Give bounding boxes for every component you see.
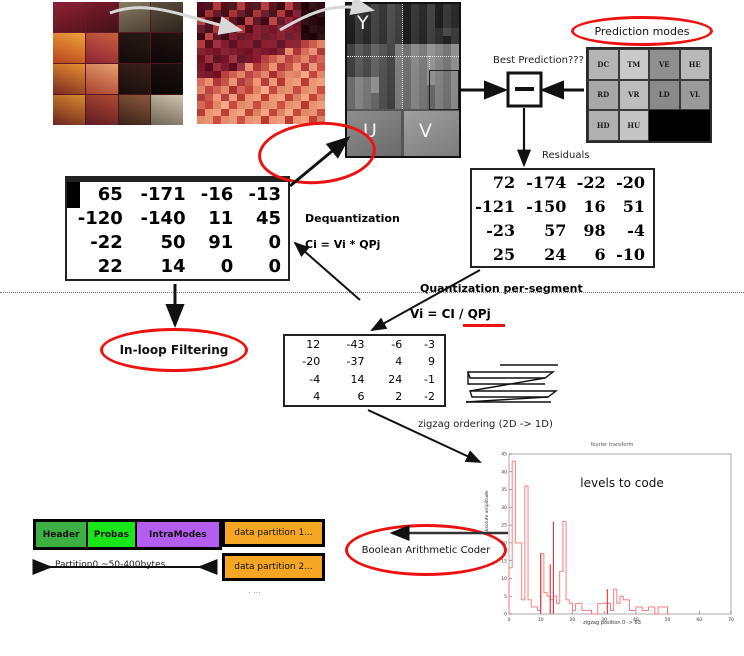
levels-to-code-annotation: levels to code [547,476,697,490]
pixel [261,63,269,71]
matrix-cell: 50 [130,231,193,255]
pixel [269,10,277,18]
dequantized-coefficients-matrix: 65-171-16-13-120-1401145-2250910221400 [65,176,290,281]
y-pixel [403,36,411,44]
y-pixel [371,101,379,109]
pixel [309,25,317,33]
quantized-coefficients-matrix: 12-43-6-3-20-3749-41424-1462-2 [283,334,446,407]
pixel [293,10,301,18]
dequantization-label: Dequantization [305,212,400,225]
matrix-cell: -22 [67,231,130,255]
pixel [237,25,245,33]
pixel [205,86,213,94]
pixel [261,109,269,117]
pixel [269,109,277,117]
pixel [309,78,317,86]
prediction-mode-hd[interactable]: HD [588,110,619,141]
matrix-cell: 24 [523,242,574,266]
pixel [221,63,229,71]
pixel [213,48,221,56]
y-pixel [443,20,451,28]
y-pixel [355,4,363,12]
chart-xlabel: zigzag position 0 -> 63 [487,620,737,626]
y-pixel [403,77,411,85]
prediction-mode-empty[interactable] [680,110,711,141]
y-pixel [355,93,363,101]
pixel [317,55,325,63]
pixel [269,40,277,48]
prediction-mode-hu[interactable]: HU [619,110,650,141]
pixel [269,86,277,94]
y-pixel [403,12,411,20]
pixel [237,78,245,86]
pixel [253,109,261,117]
y-pixel [387,77,395,85]
pixel [221,25,229,33]
prediction-mode-label: RD [597,90,609,99]
quantization-divider [0,292,744,293]
y-pixel [411,36,419,44]
pixel [317,78,325,86]
pixel [205,94,213,102]
pixel [293,2,301,10]
matrix-cell: -16 [193,182,241,206]
y-pixel [427,36,435,44]
y-pixel [419,36,427,44]
pixel [261,10,269,18]
y-pixel [363,36,371,44]
y-pixel [347,85,355,93]
pixel [277,48,285,56]
photo-tile [119,33,151,63]
pixel [237,116,245,124]
y-pixel [355,69,363,77]
pixel [253,101,261,109]
y-pixel [427,28,435,36]
y-pixel [379,44,387,52]
y-pixel [411,4,419,12]
pixel [301,86,309,94]
y-pixel [363,61,371,69]
pixel [277,116,285,124]
pixel [317,101,325,109]
macroblock-photo-grid [53,2,183,125]
svg-text:25: 25 [501,523,507,529]
pixel [301,40,309,48]
y-pixel [371,93,379,101]
photo-tile [119,2,151,32]
y-pixel [387,101,395,109]
matrix-cell: -1 [411,371,444,388]
y-pixel [427,20,435,28]
pixel [309,94,317,102]
matrix-cell: -4 [614,218,653,242]
pixel [197,25,205,33]
pixel [213,116,221,124]
coefficient-histogram: fourier transform absolute amplitude zig… [487,442,737,642]
dequantization-formula: Ci = Vi * QPj [305,238,380,251]
y-pixel [387,28,395,36]
y-pixel [379,101,387,109]
y-pixel [379,28,387,36]
y-pixel [403,85,411,93]
y-pixel [347,12,355,20]
svg-text:0: 0 [504,612,507,618]
pixel [309,55,317,63]
pixel [221,109,229,117]
pixel [309,17,317,25]
partition0-segment-intramodes[interactable]: IntraModes [137,522,219,547]
pixel [285,71,293,79]
y-pixel [451,61,459,69]
partition0-segment-probas[interactable]: Probas [88,522,137,547]
pixel [205,25,213,33]
quant-tbody: 12-43-6-3-20-3749-41424-1462-2 [285,336,444,405]
y-split-horizontal [347,56,459,57]
y-pixel [435,44,443,52]
matrix-cell: -171 [130,182,193,206]
pixel [269,63,277,71]
y-pixel [371,77,379,85]
pixel [317,48,325,56]
pixel [229,25,237,33]
pixel [197,109,205,117]
y-pixel [387,12,395,20]
prediction-mode-tm[interactable]: TM [619,49,650,80]
pixel [197,78,205,86]
pixel [309,40,317,48]
svg-text:30: 30 [501,505,507,511]
y-pixel [411,85,419,93]
pixel [293,71,301,79]
pixel [277,17,285,25]
pixel [309,2,317,10]
y-pixel [443,4,451,12]
pixel [237,48,245,56]
matrix-cell: -37 [329,353,373,370]
y-pixel [411,77,419,85]
pixel [269,71,277,79]
pixel [317,10,325,18]
pixel [261,33,269,41]
pixel [285,10,293,18]
pixel [293,40,301,48]
prediction-mode-vl[interactable]: VL [680,80,711,111]
y-pixel [443,44,451,52]
pixel [301,71,309,79]
pixel [261,71,269,79]
y-pixel [419,69,427,77]
y-pixel [347,20,355,28]
y-pixel [347,44,355,52]
pixel [253,17,261,25]
pixel [269,116,277,124]
pixel [253,86,261,94]
y-pixel [347,28,355,36]
pixel [277,94,285,102]
prediction-mode-vr[interactable]: VR [619,80,650,111]
pixel [277,86,285,94]
pixel [261,17,269,25]
pixel [269,55,277,63]
pixel [205,71,213,79]
y-pixel [371,69,379,77]
pixel [197,2,205,10]
matrix-row: -121-1501651 [472,194,653,218]
y-pixel [347,69,355,77]
matrix-cell: 9 [411,353,444,370]
svg-text:10: 10 [501,576,507,582]
pixel [261,25,269,33]
pixel [229,78,237,86]
y-pixel [435,36,443,44]
matrix-row: 65-171-16-13 [67,182,288,206]
y-pixel [371,12,379,20]
pixel [205,48,213,56]
pixel [245,33,253,41]
matrix-cell: 91 [193,231,241,255]
pixel [253,78,261,86]
matrix-cell: 14 [130,255,193,279]
prediction-mode-he[interactable]: HE [680,49,711,80]
pixel [309,86,317,94]
y-pixel [411,44,419,52]
photo-tile [151,95,183,125]
matrix-row: 72-174-22-20 [472,170,653,194]
pixel [269,94,277,102]
pixel [205,116,213,124]
dc-marker [67,182,80,208]
pixel [221,40,229,48]
matrix-cell: 25 [472,242,523,266]
pixel [253,55,261,63]
pixel [293,63,301,71]
pixel [197,116,205,124]
matrix-cell: 57 [523,218,574,242]
pixel [229,94,237,102]
matrix-row: -235798-4 [472,218,653,242]
y-pixel [411,20,419,28]
pixel [285,48,293,56]
matrix-cell: 4 [285,388,329,405]
matrix-cell: -13 [240,182,288,206]
v-plane-label: V [419,120,432,142]
pixel [253,71,261,79]
y-pixel [451,20,459,28]
pixel [261,116,269,124]
prediction-mode-ld[interactable]: LD [649,80,680,111]
pixel [237,109,245,117]
y-pixel [387,44,395,52]
pixel [229,17,237,25]
matrix-cell: -23 [472,218,523,242]
matrix-row: 12-43-6-3 [285,336,444,353]
pixel [293,55,301,63]
y-pixel [355,85,363,93]
pixel [261,48,269,56]
pixel [221,86,229,94]
pixel [285,86,293,94]
pixel [245,40,253,48]
photo-tile [53,33,85,63]
pixel [317,40,325,48]
pixel [237,71,245,79]
pixelated-macroblock [197,2,325,124]
pixel [285,55,293,63]
prediction-mode-empty[interactable] [649,110,680,141]
pixel [237,63,245,71]
pixel [293,94,301,102]
pixel [293,25,301,33]
pixel [285,78,293,86]
data-partition-1[interactable]: data partition 1... [222,519,325,547]
y-pixel [435,28,443,36]
y-pixel [387,36,395,44]
matrix-cell: 12 [285,336,329,353]
matrix-cell: 98 [574,218,613,242]
best-prediction-label: Best Prediction??? [493,55,584,66]
pixel [277,78,285,86]
pixel [269,17,277,25]
pixel [197,48,205,56]
pixel [277,71,285,79]
y-pixel [387,93,395,101]
pixel [213,78,221,86]
pixel [277,25,285,33]
matrix-cell: 4 [373,353,411,370]
pixel [285,25,293,33]
pixel [309,63,317,71]
pixel [245,101,253,109]
y-pixel [387,4,395,12]
data-partition-2[interactable]: data partition 2... [222,553,325,581]
pixel [261,40,269,48]
pixel [317,63,325,71]
matrix-cell: -140 [130,206,193,230]
pixel [197,55,205,63]
pixel [221,33,229,41]
y-pixel [355,101,363,109]
y-pixel [347,93,355,101]
matrix-cell: -174 [523,170,574,194]
pixel [301,55,309,63]
pixel [221,10,229,18]
matrix-cell: 16 [574,194,613,218]
pixel [293,116,301,124]
y-pixel [411,12,419,20]
y-pixel [363,4,371,12]
pixel [237,33,245,41]
matrix-cell: -121 [472,194,523,218]
matrix-cell: -3 [411,336,444,353]
pixel [205,33,213,41]
pixel [293,78,301,86]
partition0-bar[interactable]: HeaderProbasIntraModes [33,519,222,550]
y-plane-label: Y [357,12,369,34]
matrix-row: -120-1401145 [67,206,288,230]
boolean-arithmetic-coder-label: Boolean Arithmetic Coder [345,524,507,576]
pixel [237,86,245,94]
y-pixel [379,85,387,93]
prediction-mode-rd[interactable]: RD [588,80,619,111]
pixel [229,40,237,48]
y-pixel [443,28,451,36]
prediction-modes-callout: Prediction modes [571,16,713,46]
y-pixel [411,101,419,109]
prediction-mode-dc[interactable]: DC [588,49,619,80]
pixel [213,2,221,10]
y-pixel [371,85,379,93]
quantization-formula: Vi = CI / QPj [410,307,491,321]
pixel [285,109,293,117]
pixel [293,33,301,41]
pixel [261,2,269,10]
pixel [309,109,317,117]
pixel [229,48,237,56]
quantization-label: Quantization per-segment [420,282,583,295]
pixel [285,116,293,124]
pixel [213,101,221,109]
pixel [301,101,309,109]
pixel [301,17,309,25]
y-pixel [363,69,371,77]
matrix-cell: 51 [614,194,653,218]
pixel [237,55,245,63]
y-pixel [379,77,387,85]
svg-text:40: 40 [501,469,507,475]
matrix-cell: 0 [193,255,241,279]
pixel [261,55,269,63]
y-pixel [419,20,427,28]
pixel [205,101,213,109]
pixel [293,17,301,25]
prediction-mode-label: DC [597,60,609,69]
prediction-mode-ve[interactable]: VE [649,49,680,80]
pixel [245,55,253,63]
pixel [253,25,261,33]
pixel [245,71,253,79]
photo-tile [53,64,85,94]
pixel [245,63,253,71]
y-pixel [419,77,427,85]
pixel [245,10,253,18]
pixel [277,101,285,109]
pixel [221,17,229,25]
pixel [237,10,245,18]
photo-tile [151,33,183,63]
pixel [245,17,253,25]
in-loop-filtering-label: In-loop Filtering [100,328,248,372]
pixel [221,2,229,10]
pixel [205,17,213,25]
y-pixel [435,4,443,12]
matrix-row: -20-3749 [285,353,444,370]
pixel [213,10,221,18]
y-pixel [387,61,395,69]
partition0-segment-header[interactable]: Header [36,522,88,547]
prediction-modes-grid[interactable]: DCTMVEHERDVRLDVLHDHU [586,47,712,143]
y-pixel [355,61,363,69]
pixel [213,109,221,117]
y-pixel [379,36,387,44]
pixel [285,33,293,41]
pixel [221,48,229,56]
pixel [229,71,237,79]
pixel [293,86,301,94]
pixel [197,17,205,25]
pixel [309,48,317,56]
y-pixel [379,69,387,77]
